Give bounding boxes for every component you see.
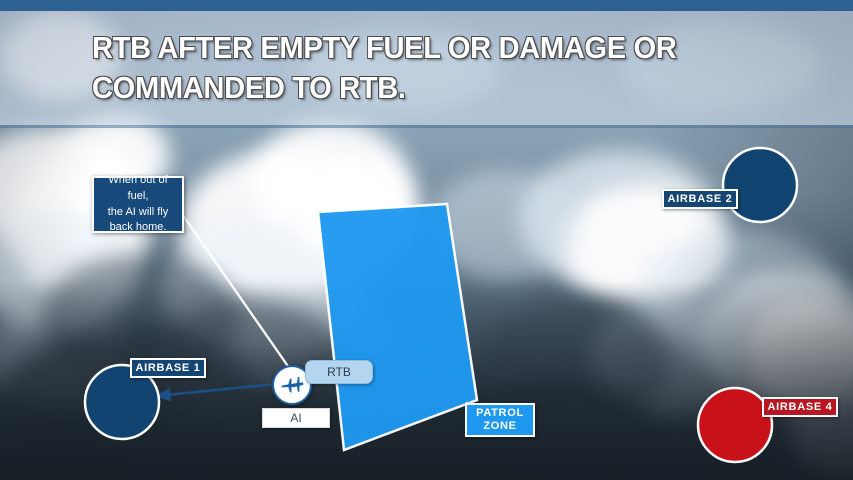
fighter-jet-icon (279, 372, 305, 398)
ai-chip[interactable]: AI (262, 408, 330, 428)
rtb-chip[interactable]: RTB (305, 360, 373, 384)
airbase-1-label[interactable]: AIRBASE 1 (130, 358, 206, 378)
airbase-2-marker[interactable] (723, 148, 797, 222)
fuel-callout-box: When out of fuel, the AI will fly back h… (92, 176, 184, 233)
diagram-vector-layer (0, 0, 853, 480)
patrol-zone-polygon[interactable] (318, 204, 477, 450)
callout-leader-line (180, 211, 292, 372)
airbase-2-label[interactable]: AIRBASE 2 (662, 189, 738, 209)
airbase-4-label[interactable]: AIRBASE 4 (762, 397, 838, 417)
patrol-zone-label[interactable]: PATROL ZONE (465, 403, 535, 437)
airbase-4-marker[interactable] (698, 388, 772, 462)
rtb-route-line (156, 383, 286, 396)
slide-canvas: RTB AFTER EMPTY FUEL OR DAMAGE OR COMMAN… (0, 0, 853, 480)
